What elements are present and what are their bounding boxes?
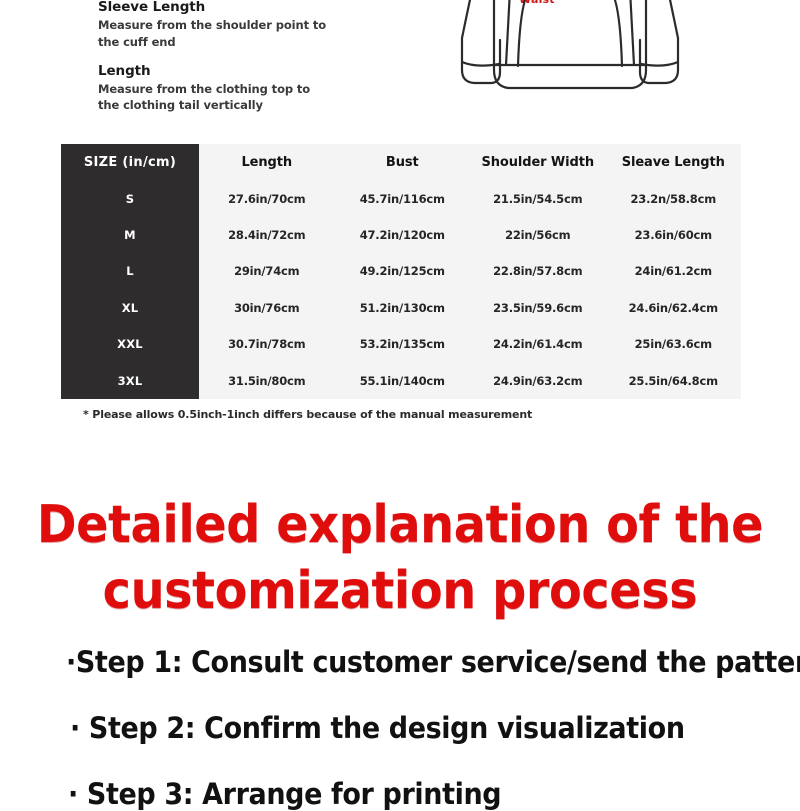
- step-item-3: · Step 3: Arrange for printing: [68, 780, 501, 809]
- step-item-1: ·Step 1: Consult customer service/send t…: [66, 648, 800, 677]
- cell-xxl-length: 30.7in/78cm: [199, 337, 335, 351]
- size-label-xxl: XXL: [61, 326, 199, 362]
- cell-s-bust: 45.7in/116cm: [335, 192, 471, 206]
- note-title-sleeve-length: Sleeve Length: [98, 0, 398, 16]
- column-header-shoulder-width: Shoulder Width: [470, 155, 606, 170]
- size-label-3xl: 3XL: [61, 363, 199, 399]
- cell-l-length: 29in/74cm: [199, 264, 335, 278]
- cell-xl-length: 30in/76cm: [199, 301, 335, 315]
- size-column: SIZE (in/cm) S M L XL XXL 3XL: [61, 144, 199, 399]
- cell-xxl-shoulder: 24.2in/61.4cm: [470, 337, 606, 351]
- cell-xxl-sleeve: 25in/63.6cm: [606, 337, 742, 351]
- measurement-disclaimer: * Please allows 0.5inch-1inch differs be…: [83, 408, 532, 421]
- cell-3xl-bust: 55.1in/140cm: [335, 374, 471, 388]
- cell-m-bust: 47.2in/120cm: [335, 228, 471, 242]
- table-row: 30in/76cm 51.2in/130cm 23.5in/59.6cm 24.…: [199, 290, 741, 326]
- table-row: 31.5in/80cm 55.1in/140cm 24.9in/63.2cm 2…: [199, 363, 741, 399]
- cell-3xl-shoulder: 24.9in/63.2cm: [470, 374, 606, 388]
- size-label-xl: XL: [61, 290, 199, 326]
- cell-xl-bust: 51.2in/130cm: [335, 301, 471, 315]
- measurement-guide-section: Sleeve Length Measure from the shoulder …: [0, 0, 800, 132]
- size-label-s: S: [61, 180, 199, 216]
- measure-notes-list: Sleeve Length Measure from the shoulder …: [98, 0, 398, 114]
- table-row: 29in/74cm 49.2in/125cm 22.8in/57.8cm 24i…: [199, 253, 741, 289]
- cell-s-length: 27.6in/70cm: [199, 192, 335, 206]
- cell-l-sleeve: 24in/61.2cm: [606, 264, 742, 278]
- cell-3xl-sleeve: 25.5in/64.8cm: [606, 374, 742, 388]
- table-row: 28.4in/72cm 47.2in/120cm 22in/56cm 23.6i…: [199, 217, 741, 253]
- size-label-m: M: [61, 217, 199, 253]
- cell-s-sleeve: 23.2n/58.8cm: [606, 192, 742, 206]
- cell-xl-sleeve: 24.6in/62.4cm: [606, 301, 742, 315]
- cell-l-bust: 49.2in/125cm: [335, 264, 471, 278]
- page-title-line-2: customization process: [32, 558, 768, 624]
- column-header-length: Length: [199, 155, 335, 170]
- note-body-length: Measure from the clothing top to the clo…: [98, 81, 330, 114]
- note-title-length: Length: [98, 62, 398, 80]
- table-row: 27.6in/70cm 45.7in/116cm 21.5in/54.5cm 2…: [199, 180, 741, 216]
- page-title: Detailed explanation of the customizatio…: [32, 492, 768, 624]
- hoodie-line-drawing-icon: [400, 0, 740, 120]
- cell-l-shoulder: 22.8in/57.8cm: [470, 264, 606, 278]
- cell-m-shoulder: 22in/56cm: [470, 228, 606, 242]
- table-header-row: Length Bust Shoulder Width Sleave Length: [199, 144, 741, 180]
- cell-xxl-bust: 53.2in/135cm: [335, 337, 471, 351]
- cell-m-sleeve: 23.6in/60cm: [606, 228, 742, 242]
- cell-m-length: 28.4in/72cm: [199, 228, 335, 242]
- note-body-sleeve-length: Measure from the shoulder point to the c…: [98, 17, 330, 50]
- step-item-2: · Step 2: Confirm the design visualizati…: [70, 714, 685, 743]
- cell-3xl-length: 31.5in/80cm: [199, 374, 335, 388]
- size-column-header: SIZE (in/cm): [61, 144, 199, 180]
- page-title-line-1: Detailed explanation of the: [32, 492, 768, 558]
- column-header-sleave-length: Sleave Length: [606, 155, 742, 170]
- size-chart-table: SIZE (in/cm) S M L XL XXL 3XL Length Bus…: [61, 144, 741, 399]
- table-row: 30.7in/78cm 53.2in/135cm 24.2in/61.4cm 2…: [199, 326, 741, 362]
- column-header-bust: Bust: [335, 155, 471, 170]
- size-label-l: L: [61, 253, 199, 289]
- measurement-columns: Length Bust Shoulder Width Sleave Length…: [199, 144, 741, 399]
- cell-xl-shoulder: 23.5in/59.6cm: [470, 301, 606, 315]
- cell-s-shoulder: 21.5in/54.5cm: [470, 192, 606, 206]
